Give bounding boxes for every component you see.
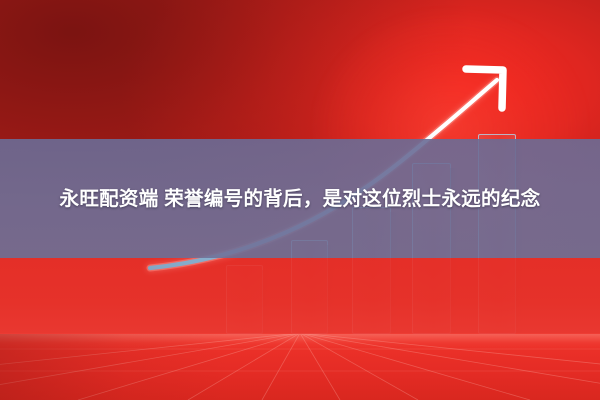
caption-text: 永旺配资端 荣誉编号的背后，是对这位烈士永远的纪念 [24, 183, 576, 215]
caption-band: 永旺配资端 荣誉编号的背后，是对这位烈士永远的纪念 [0, 139, 600, 258]
image-canvas: 永旺配资端 荣誉编号的背后，是对这位烈士永远的纪念 [0, 0, 600, 400]
